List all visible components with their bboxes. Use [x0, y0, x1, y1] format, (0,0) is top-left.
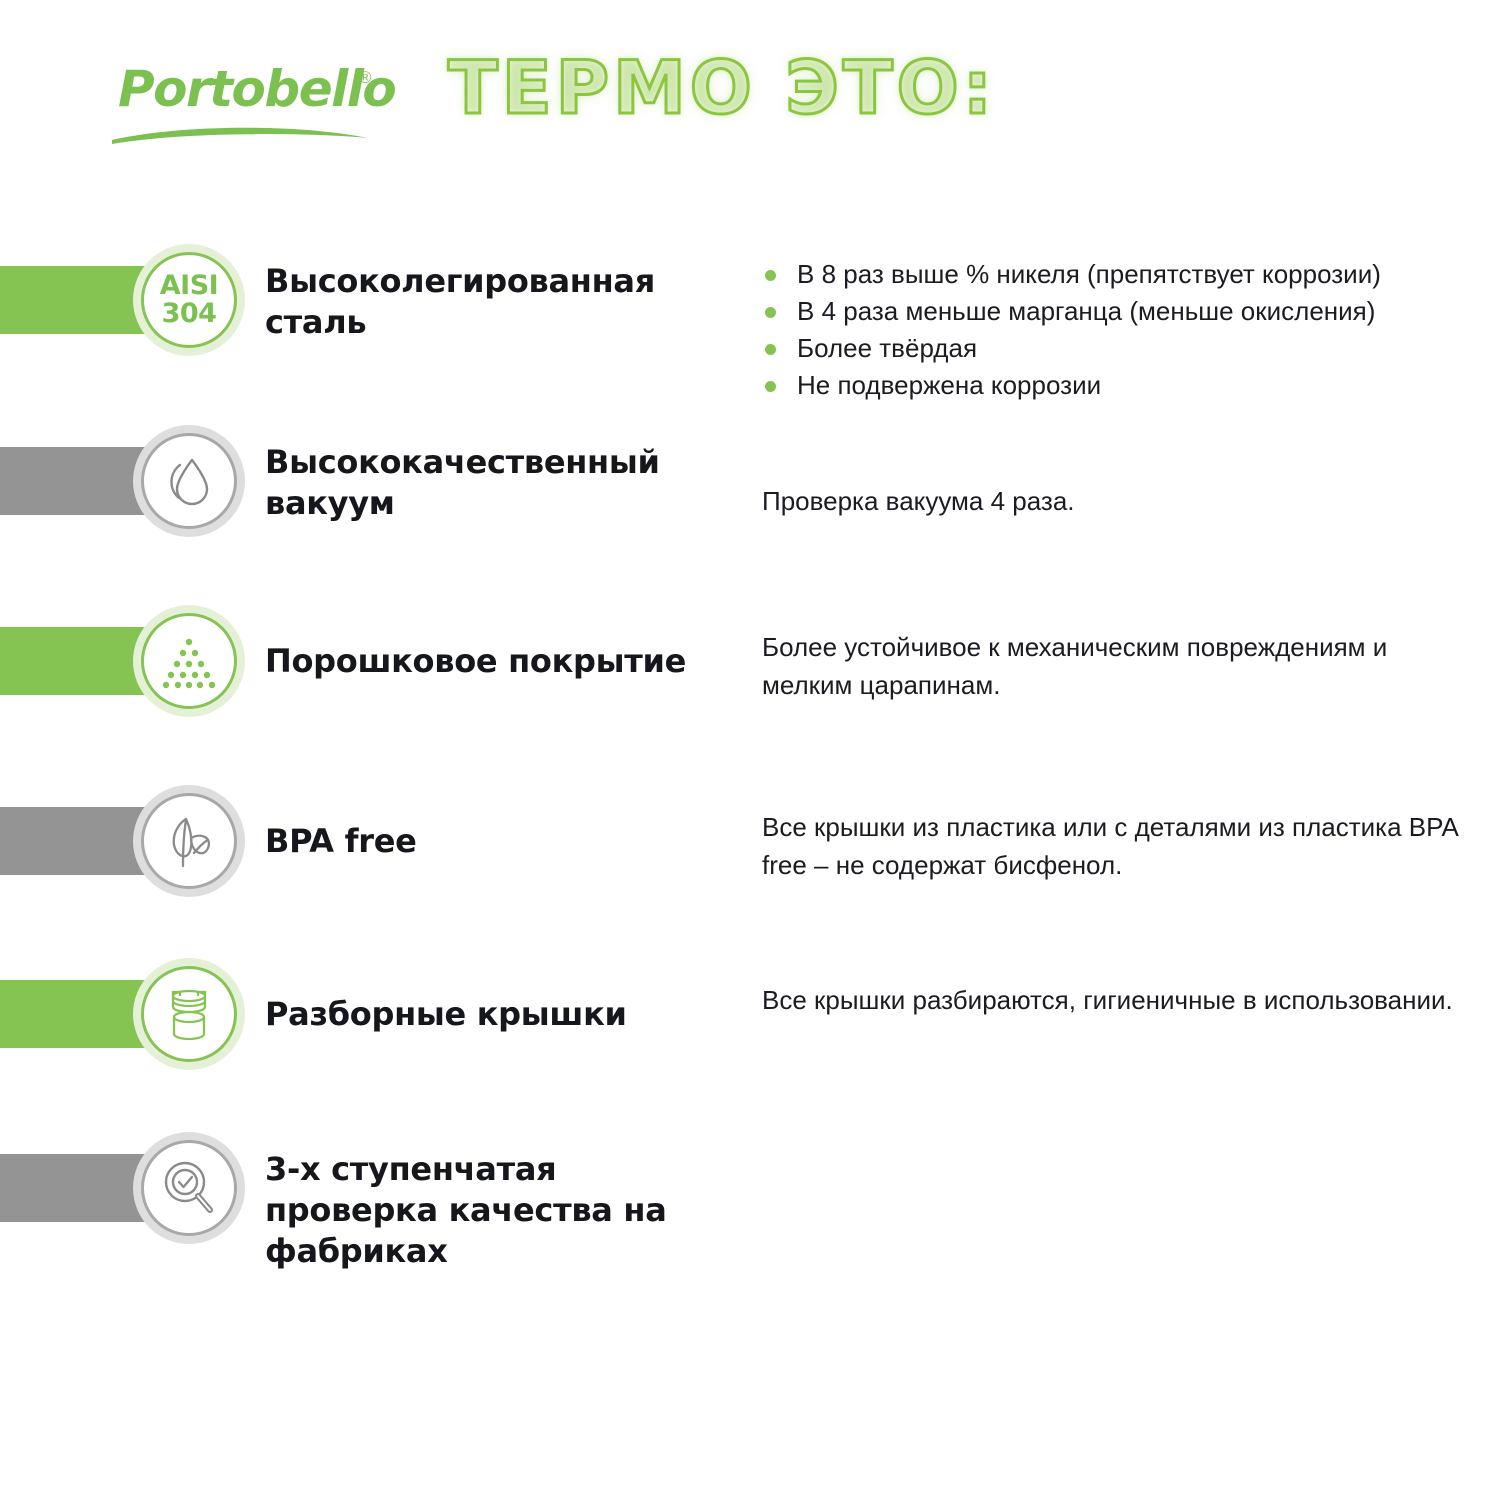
- leaves-icon: [158, 810, 220, 872]
- list-item: Не подвержена коррозии: [762, 367, 1482, 404]
- feature-title: Высоколегированная сталь: [265, 261, 735, 343]
- water-drop-badge: [133, 425, 245, 537]
- feature-title: Высококачественный вакуум: [265, 442, 735, 524]
- feature-description: Более устойчивое к механическим поврежде…: [762, 628, 1462, 704]
- leaves-badge: [133, 785, 245, 897]
- aisi-304-badge: AISI 304: [133, 244, 245, 356]
- powder-dots-badge: [133, 605, 245, 717]
- feature-description: Проверка вакуума 4 раза.: [762, 482, 1462, 520]
- list-item: Более твёрдая: [762, 330, 1482, 367]
- badge-line-1: AISI: [160, 272, 218, 300]
- powder-dots-icon: [158, 630, 220, 692]
- feature-list: AISI 304 Высоколегированная сталь В 8 ра…: [0, 0, 1500, 1500]
- feature-bullet-list: В 8 раз выше % никеля (препятствует корр…: [762, 256, 1482, 404]
- list-item: В 4 раза меньше марганца (меньше окислен…: [762, 293, 1482, 330]
- feature-description: Все крышки разбираются, гигиеничные в ис…: [762, 981, 1462, 1019]
- feature-title: Порошковое покрытие: [265, 641, 735, 682]
- feature-title: 3-х ступенчатая проверка качества на фаб…: [265, 1149, 735, 1272]
- list-item: В 8 раз выше % никеля (препятствует корр…: [762, 256, 1482, 293]
- magnifier-check-icon: [158, 1157, 220, 1219]
- feature-title: Разборные крышки: [265, 994, 735, 1035]
- feature-description: Все крышки из пластика или с деталями из…: [762, 808, 1462, 884]
- feature-title: BPA free: [265, 821, 735, 862]
- magnifier-check-badge: [133, 1132, 245, 1244]
- water-drop-icon: [158, 450, 220, 512]
- lid-cup-badge: [133, 958, 245, 1070]
- lid-cup-icon: [158, 983, 220, 1045]
- badge-line-2: 304: [160, 300, 218, 328]
